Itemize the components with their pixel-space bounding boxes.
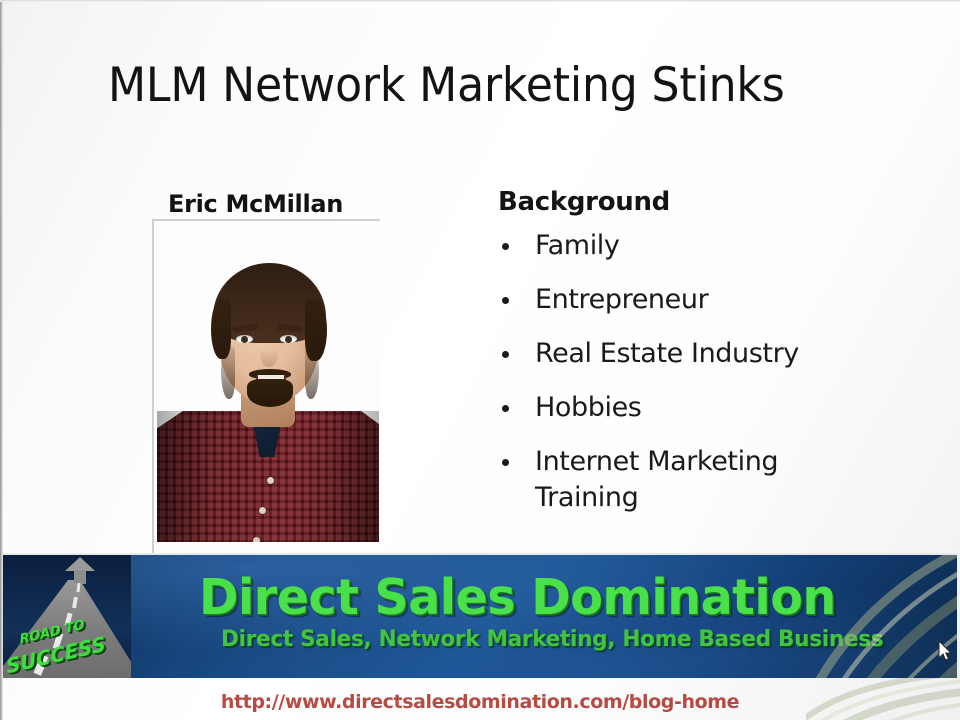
photo-shirt-shadow-right — [325, 411, 379, 542]
speaker-photo — [157, 229, 379, 542]
photo-nose — [260, 341, 278, 367]
photo-pupil-left — [241, 336, 248, 343]
site-banner: ROAD TO SUCCESS Direct Sales Domination … — [3, 553, 957, 678]
photo-goatee — [247, 379, 293, 407]
road-to-success-graphic: ROAD TO SUCCESS — [3, 555, 131, 678]
banner-title: Direct Sales Domination — [199, 569, 836, 627]
photo-shirt-button — [267, 477, 274, 484]
photo-shirt-button — [259, 507, 266, 514]
list-item: Internet Marketing Training — [498, 444, 828, 516]
photo-shirt-shadow-left — [157, 411, 211, 542]
mouse-pointer-icon — [938, 641, 952, 661]
background-content-column: Background Family Entrepreneur Real Esta… — [498, 186, 918, 534]
background-bullet-list: Family Entrepreneur Real Estate Industry… — [498, 228, 918, 516]
presentation-slide: MLM Network Marketing Stinks Eric McMill… — [0, 0, 960, 720]
list-item: Real Estate Industry — [498, 336, 828, 372]
speaker-name-label: Eric McMillan — [168, 190, 343, 219]
content-heading: Background — [498, 186, 918, 218]
slide-title: MLM Network Marketing Stinks — [108, 58, 785, 114]
banner-subtitle: Direct Sales, Network Marketing, Home Ba… — [221, 627, 883, 653]
list-item: Entrepreneur — [498, 282, 828, 318]
slide-top-edge — [0, 0, 960, 2]
photo-shirt-button — [253, 537, 260, 542]
list-item: Family — [498, 228, 828, 264]
road-arrow-icon — [65, 557, 95, 583]
photo-beard-left — [221, 347, 235, 399]
list-item: Hobbies — [498, 390, 828, 426]
photo-pupil-right — [285, 336, 292, 343]
footer-url[interactable]: http://www.directsalesdomination.com/blo… — [0, 690, 960, 714]
